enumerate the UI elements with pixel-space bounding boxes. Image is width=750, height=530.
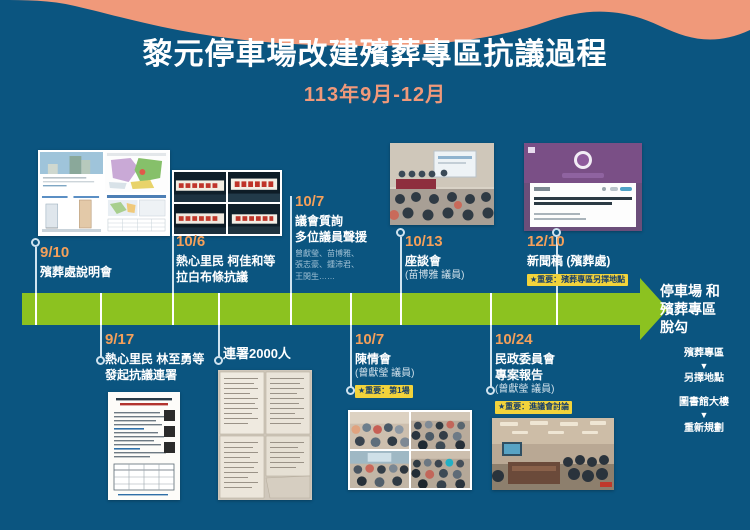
- photo-council-chamber: [492, 418, 614, 490]
- axis-tick: [35, 293, 37, 325]
- event-sub: (苗博雅 議員): [405, 269, 464, 283]
- event-sub: (曾獻瑩 議員): [355, 367, 414, 381]
- timeline-stem: [172, 236, 174, 293]
- event-names-line3: 王閔生……: [295, 271, 367, 283]
- axis-tick: [100, 293, 102, 325]
- axis-tick: [400, 293, 402, 325]
- slide-zoning-map: [105, 152, 168, 192]
- axis-tick: [556, 293, 558, 325]
- slide-section-diagram: [40, 194, 103, 234]
- event-signatures: 連署2000人: [223, 345, 291, 363]
- photo-signature-sheets: [218, 370, 312, 500]
- event-1210: 12/10 新聞稿 (殯葬處) ★重要：殯葬專區另擇地點: [527, 234, 628, 287]
- axis-tick: [218, 293, 220, 325]
- event-date: 10/6: [176, 234, 275, 251]
- event-date: 9/10: [40, 245, 112, 262]
- banner-photo: [228, 204, 280, 234]
- down-arrow-icon: ▼: [660, 362, 748, 372]
- conclusion-from: 圖書館大樓: [660, 396, 748, 410]
- page-title-main: 黎元停車場改建殯葬專區: [143, 38, 484, 71]
- timeline-stem: [290, 196, 292, 293]
- event-date: 9/17: [105, 332, 204, 349]
- event-highlight-badge: ★重要：第1場: [355, 385, 413, 397]
- event-title-line1: 熱心里民 柯佳和等: [176, 253, 275, 269]
- event-title: 陳情會: [355, 351, 414, 367]
- event-title-line2: 多位議員聲援: [295, 229, 367, 245]
- event-title-line2: 發起抗議連署: [105, 367, 204, 383]
- timeline-stem: [490, 325, 492, 388]
- event-names-line1: 曾獻瑩、苗博雅、: [295, 248, 367, 260]
- photo-newsrelease-1210: [524, 143, 642, 231]
- banner-photo: [174, 204, 226, 234]
- event-highlight-badge: ★重要：進議會討論: [495, 401, 572, 413]
- timeline-stem: [350, 325, 352, 388]
- event-date: 12/10: [527, 234, 628, 251]
- timeline-stem: [35, 247, 37, 293]
- event-date: 10/7: [295, 194, 367, 211]
- axis-tick: [490, 293, 492, 325]
- event-910: 9/10 殯葬處說明會: [40, 245, 112, 280]
- page-title-tail: 抗議過程: [484, 38, 608, 71]
- page-header: 黎元停車場改建殯葬專區抗議過程 113年9月-12月: [0, 38, 750, 107]
- photo-slides-910: [38, 150, 170, 236]
- timeline-stem: [218, 325, 220, 358]
- conclusion-headline-line3: 脫勾: [660, 318, 748, 336]
- event-names-line2: 張志豪、鍾沛君、: [295, 259, 367, 271]
- down-arrow-icon: ▼: [660, 411, 748, 421]
- conclusion-from: 殯葬專區: [660, 347, 748, 361]
- axis-tick: [172, 293, 174, 325]
- page-subtitle: 113年9月-12月: [0, 78, 750, 107]
- slide-building-photo: [40, 152, 103, 192]
- conclusion-to: 另擇地點: [660, 372, 748, 386]
- event-107-petition: 10/7 陳情會 (曾獻瑩 議員) ★重要：第1場: [355, 332, 414, 398]
- timeline-node-1013: [396, 228, 405, 237]
- event-title-line2: 專案報告: [495, 367, 572, 383]
- event-date: 10/7: [355, 332, 414, 349]
- photo-banners-106: [172, 170, 282, 236]
- conclusion-to: 重新規劃: [660, 422, 748, 436]
- conclusion-panel: 停車場 和 殯葬專區 脫勾 殯葬專區 ▼ 另擇地點 圖書館大樓 ▼ 重新規劃: [660, 282, 748, 436]
- event-917: 9/17 熱心里民 林至勇等 發起抗議連署: [105, 332, 204, 383]
- crowd-photo: [411, 451, 470, 488]
- event-1013: 10/13 座談會 (苗博雅 議員): [405, 234, 464, 282]
- timeline-axis: [22, 293, 642, 325]
- banner-photo: [174, 172, 226, 202]
- photo-petition-form: [108, 392, 180, 500]
- event-title: 座談會: [405, 253, 464, 269]
- infographic-canvas: 黎元停車場改建殯葬專區抗議過程 113年9月-12月: [0, 0, 750, 530]
- axis-tick: [350, 293, 352, 325]
- banner-photo: [228, 172, 280, 202]
- event-title: 殯葬處說明會: [40, 264, 112, 280]
- conclusion-headline-line2: 殯葬專區: [660, 300, 748, 318]
- event-date: 10/13: [405, 234, 464, 251]
- event-title-line1: 議會質詢: [295, 213, 367, 229]
- crowd-photo: [350, 412, 409, 449]
- event-107-interpellation: 10/7 議會質詢 多位議員聲援 曾獻瑩、苗博雅、 張志豪、鍾沛君、 王閔生……: [295, 194, 367, 283]
- event-106: 10/6 熱心里民 柯佳和等 拉白布條抗議: [176, 234, 275, 285]
- event-title-line1: 熱心里民 林至勇等: [105, 351, 204, 367]
- axis-tick: [290, 293, 292, 325]
- timeline-stem: [400, 237, 402, 293]
- event-sub: (曾獻瑩 議員): [495, 383, 572, 397]
- crowd-photo: [350, 451, 409, 488]
- conclusion-pair-1: 殯葬專區 ▼ 另擇地點: [660, 347, 748, 387]
- event-highlight-badge: ★重要：殯葬專區另擇地點: [527, 274, 628, 286]
- event-date: 10/24: [495, 332, 572, 349]
- conclusion-headline-line1: 停車場 和: [660, 282, 748, 300]
- event-title-line2: 拉白布條抗議: [176, 269, 275, 285]
- event-title: 連署2000人: [223, 345, 291, 363]
- timeline-node-910: [31, 238, 40, 247]
- event-title-line1: 民政委員會: [495, 351, 572, 367]
- event-1024: 10/24 民政委員會 專案報告 (曾獻瑩 議員) ★重要：進議會討論: [495, 332, 572, 414]
- photo-seminar-1013: [390, 143, 494, 225]
- conclusion-pair-2: 圖書館大樓 ▼ 重新規劃: [660, 396, 748, 436]
- page-title: 黎元停車場改建殯葬專區抗議過程: [0, 38, 750, 73]
- photo-assembly-grid: [348, 410, 472, 490]
- event-title: 新聞稿 (殯葬處): [527, 253, 628, 269]
- timeline-stem: [100, 325, 102, 358]
- slide-map-table: [105, 194, 168, 234]
- crowd-photo: [411, 412, 470, 449]
